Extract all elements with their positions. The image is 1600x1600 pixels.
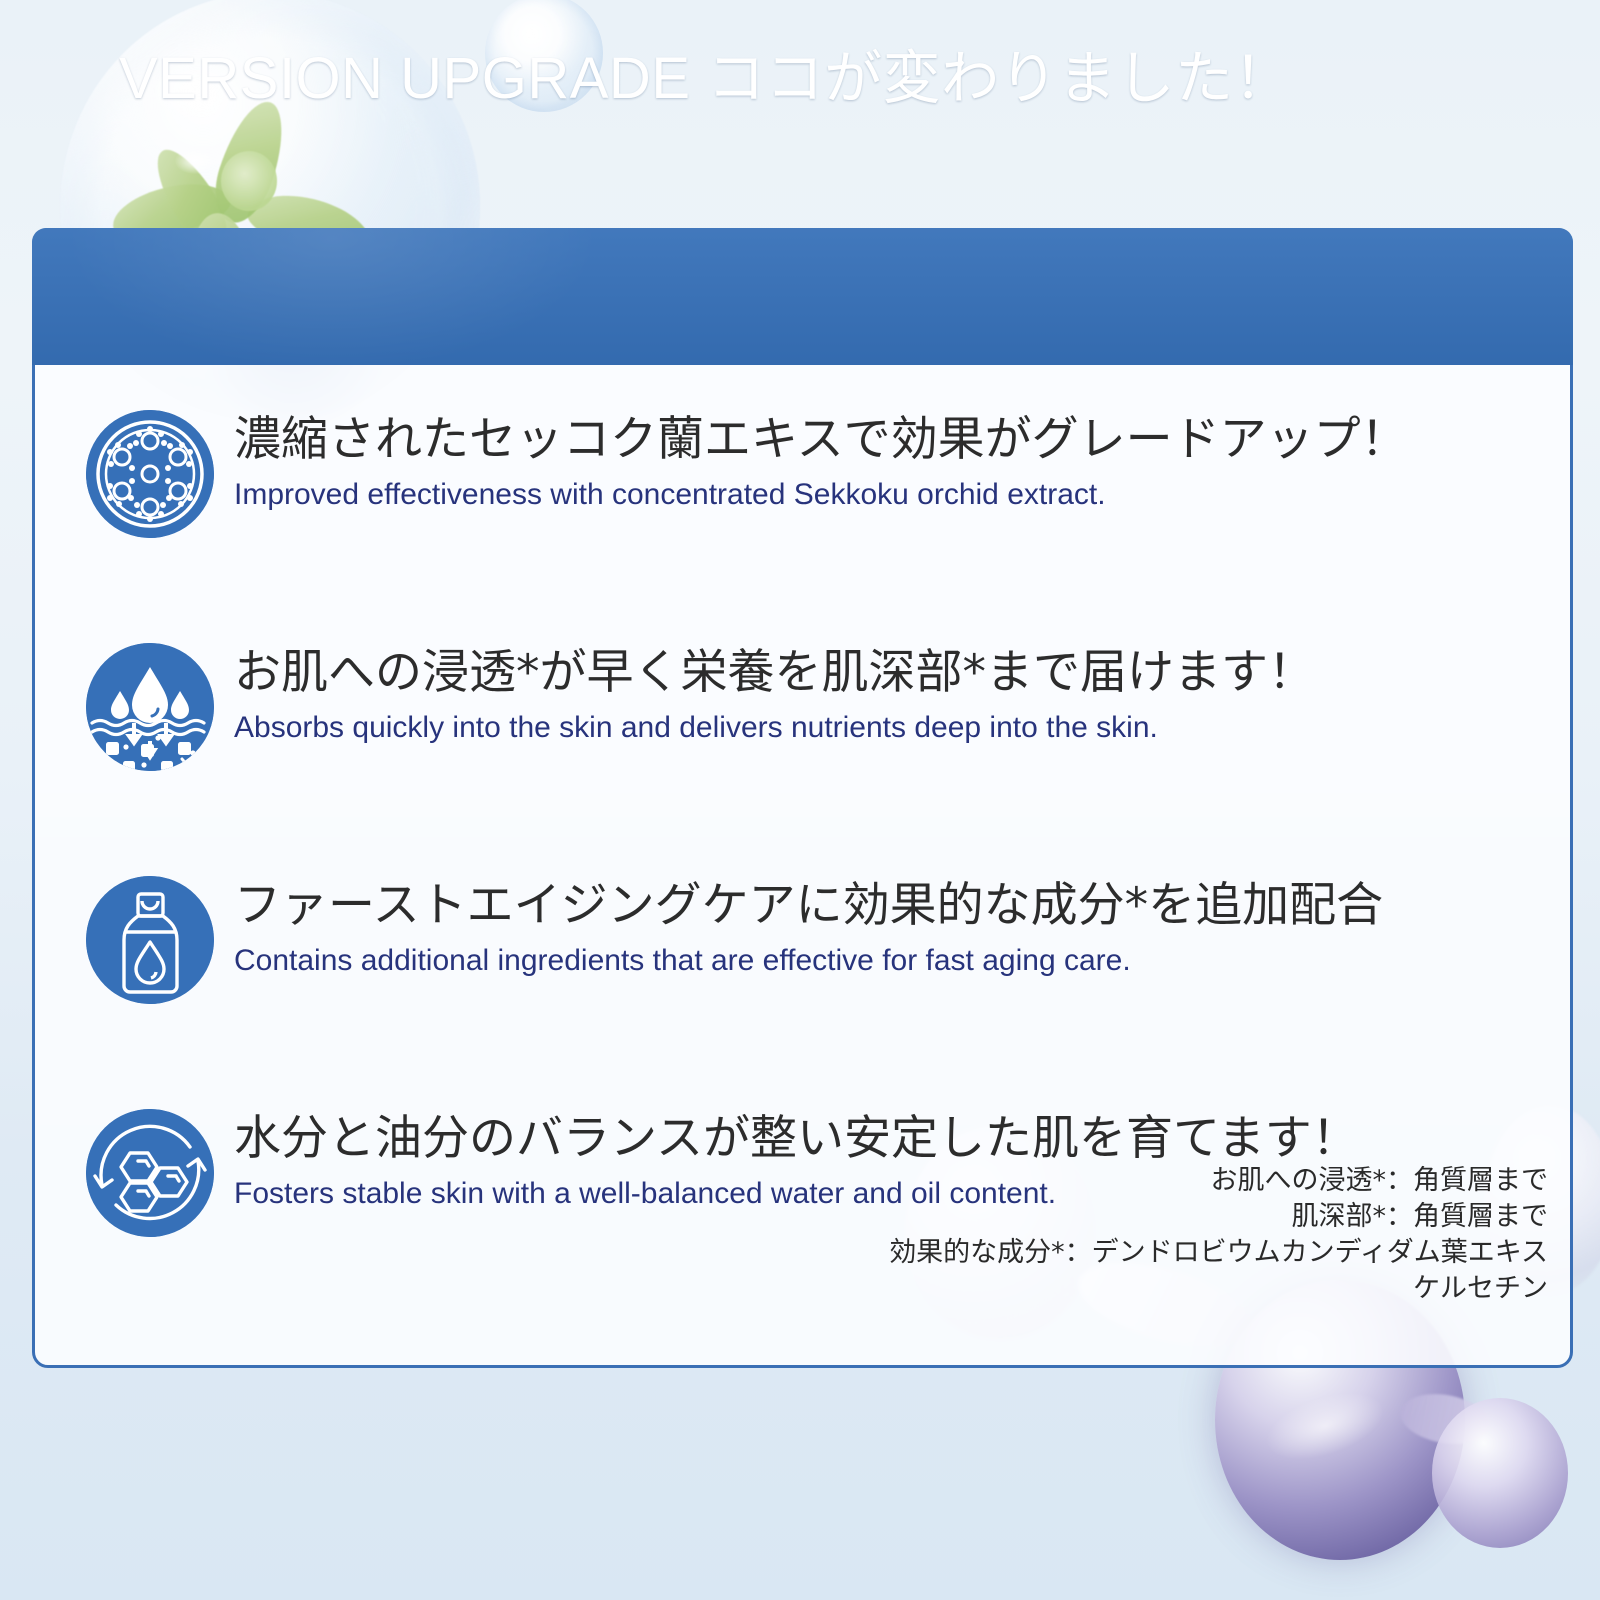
- feature-row: お肌への浸透*が早く栄養を肌深部*まで届けます！ Absorbs quickly…: [32, 603, 1573, 836]
- feature-list: 濃縮されたセッコク蘭エキスで効果がグレードアップ！ Improved effec…: [32, 365, 1573, 1302]
- footnote-line: お肌への浸透*：角質層まで: [889, 1163, 1548, 1199]
- header-tint-overlay: [32, 228, 1573, 365]
- feature-heading-ja: 水分と油分のバランスが整い安定した肌を育てます！: [234, 1111, 1573, 1166]
- water-drop-skin-penetration-icon: [86, 643, 214, 771]
- lotion-bottle-droplet-icon: [86, 876, 214, 1004]
- feature-text: ファーストエイジングケアに効果的な成分*を追加配合 Contains addit…: [234, 876, 1573, 979]
- footnote-line: ケルセチン: [889, 1271, 1548, 1307]
- feature-heading-ja: お肌への浸透*が早く栄養を肌深部*まで届けます！: [234, 645, 1573, 700]
- bubble-highlight: [175, 148, 215, 174]
- feature-text: お肌への浸透*が早く栄養を肌深部*まで届けます！ Absorbs quickly…: [234, 643, 1573, 746]
- feature-heading-ja: 濃縮されたセッコク蘭エキスで効果がグレードアップ！: [234, 412, 1573, 467]
- feature-heading-en: Contains additional ingredients that are…: [234, 943, 1573, 979]
- feature-row: 濃縮されたセッコク蘭エキスで効果がグレードアップ！ Improved effec…: [32, 365, 1573, 603]
- footnote-block: お肌への浸透*：角質層まで 肌深部*：角質層まで 効果的な成分*：デンドロビウム…: [889, 1163, 1548, 1307]
- footnote-line: 肌深部*：角質層まで: [889, 1199, 1548, 1235]
- feature-heading-en: Absorbs quickly into the skin and delive…: [234, 710, 1573, 746]
- promo-graphic: VERSION UPGRADE ココが変わりました！: [0, 0, 1600, 1600]
- molecule-blob-small-purple: [1432, 1398, 1568, 1548]
- page-title: VERSION UPGRADE ココが変わりました！: [119, 50, 1292, 108]
- feature-row: ファーストエイジングケアに効果的な成分*を追加配合 Contains addit…: [32, 836, 1573, 1069]
- feature-heading-ja: ファーストエイジングケアに効果的な成分*を追加配合: [234, 878, 1573, 933]
- feature-heading-en: Improved effectiveness with concentrated…: [234, 477, 1573, 513]
- petri-dish-cells-icon: [86, 410, 214, 538]
- card-header-bar: [32, 228, 1573, 365]
- orchid-petal: [205, 94, 295, 231]
- footnote-line: 効果的な成分*：デンドロビウムカンディダム葉エキス: [889, 1235, 1548, 1271]
- hexagon-molecules-cycle-icon: [86, 1109, 214, 1237]
- orchid-center: [221, 151, 277, 211]
- feature-text: 濃縮されたセッコク蘭エキスで効果がグレードアップ！ Improved effec…: [234, 410, 1573, 513]
- molecule-link: [1397, 1388, 1494, 1451]
